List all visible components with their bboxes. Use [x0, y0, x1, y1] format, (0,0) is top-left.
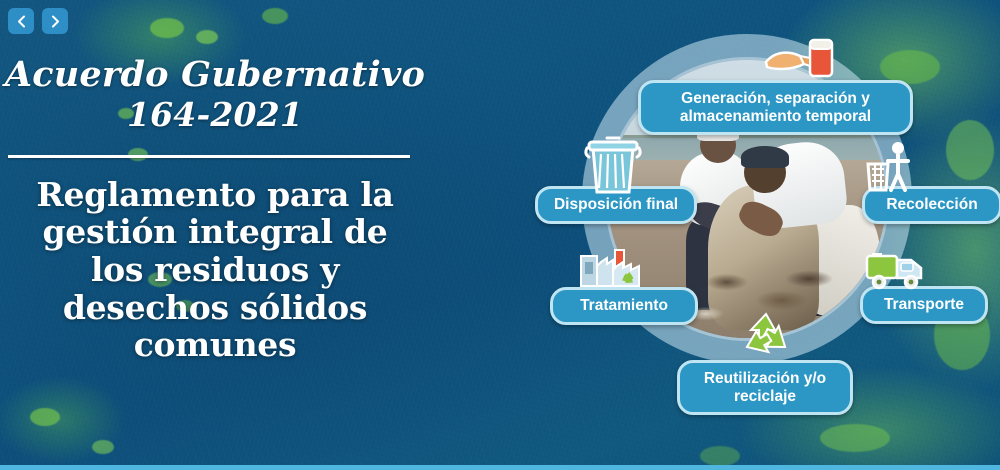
hero-divider	[8, 155, 410, 158]
chevron-right-icon	[50, 15, 61, 28]
cycle-step-label: Generación, separación y almacenamiento …	[680, 90, 871, 125]
hero-kicker-line1: Acuerdo Gubernativo	[5, 54, 425, 95]
person-trashbin-icon	[860, 140, 918, 203]
page-title: Reglamento para la gestión integral de l…	[0, 176, 430, 364]
vegetation-blob	[262, 8, 288, 24]
cycle-step-label: Tratamiento	[580, 297, 668, 314]
vegetation-blob	[196, 30, 218, 44]
garbage-truck-icon	[863, 244, 929, 297]
carousel-nav	[8, 8, 68, 34]
vegetation-blob	[92, 440, 114, 454]
carousel-progress-bar[interactable]	[0, 465, 1000, 470]
hero-kicker-line2: 164-2021	[0, 97, 430, 133]
vegetation-blob	[150, 18, 184, 38]
cycle-step-label: Reutilización y/o reciclaje	[704, 370, 826, 405]
hero-kicker: Acuerdo Gubernativo 164-2021	[0, 56, 430, 133]
hero-banner: Acuerdo Gubernativo 164-2021 Reglamento …	[0, 0, 1000, 470]
carousel-progress-fill	[0, 465, 1000, 470]
treatment-plant-icon	[577, 234, 651, 295]
soda-can-icon	[760, 36, 846, 87]
vegetation-blob	[30, 408, 60, 426]
cycle-step-generacion[interactable]: Generación, separación y almacenamiento …	[638, 80, 913, 135]
carousel-next-button[interactable]	[42, 8, 68, 34]
waste-cycle-diagram: Generación, separación y almacenamiento …	[545, 22, 1000, 452]
trash-can-icon	[583, 134, 643, 201]
cycle-step-label: Transporte	[884, 296, 964, 313]
chevron-left-icon	[16, 15, 27, 28]
carousel-prev-button[interactable]	[8, 8, 34, 34]
cycle-step-reutilizacion[interactable]: Reutilización y/o reciclaje	[677, 360, 853, 415]
photo-worker-two-cap	[741, 146, 788, 168]
hero-text-block: Acuerdo Gubernativo 164-2021 Reglamento …	[0, 56, 430, 364]
recycling-icon	[737, 310, 795, 367]
